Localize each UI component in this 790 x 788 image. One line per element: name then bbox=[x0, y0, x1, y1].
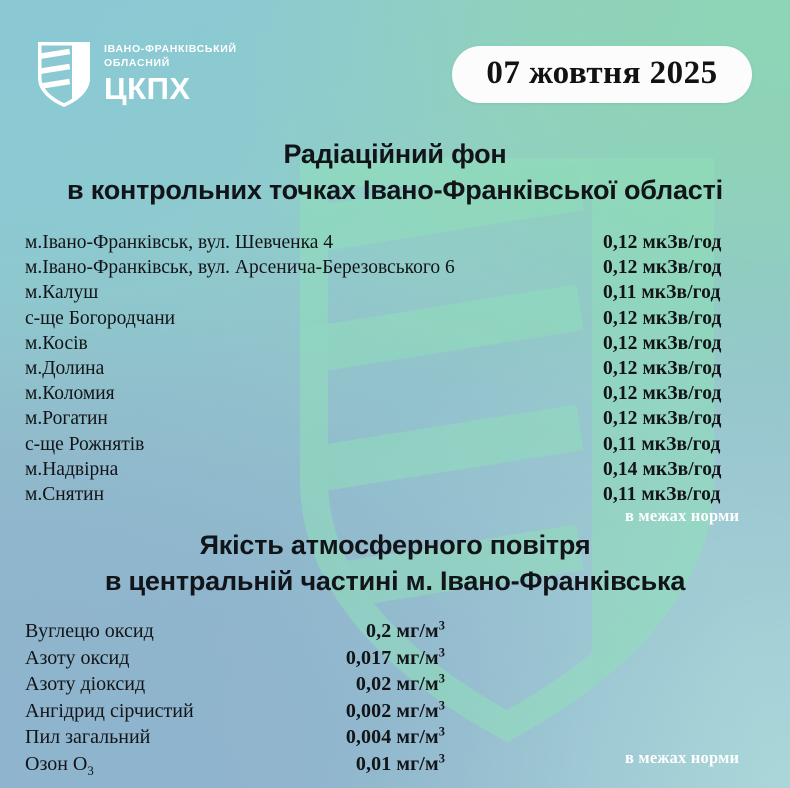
measurement-row: м.Івано-Франківськ, вул. Арсенича-Березо… bbox=[25, 255, 768, 280]
shield-icon bbox=[34, 38, 94, 110]
measurement-row: Азоту діоксид0,02 мг/м3 bbox=[25, 671, 445, 698]
measurement-value: 0,12 мкЗв/год bbox=[603, 230, 768, 255]
measurement-value: 0,11 мкЗв/год bbox=[603, 280, 768, 305]
measurement-value: 0,11 мкЗв/год bbox=[603, 482, 768, 507]
measurement-value: 0,14 мкЗв/год bbox=[603, 457, 768, 482]
measurement-label: Азоту діоксид bbox=[25, 671, 313, 698]
measurement-value: 0,12 мкЗв/год bbox=[603, 255, 768, 280]
measurement-value: 0,12 мкЗв/год bbox=[603, 306, 768, 331]
logo-line-1: ІВАНО-ФРАНКІВСЬКИЙ bbox=[104, 43, 237, 57]
measurement-label: м.Надвірна bbox=[25, 457, 118, 482]
air-quality-measurement-table: Вуглецю оксид0,2 мг/м3Азоту оксид0,017 м… bbox=[25, 618, 445, 777]
measurement-row: м.Надвірна0,14 мкЗв/год bbox=[25, 457, 768, 482]
measurement-row: Пил загальний0,004 мг/м3 bbox=[25, 724, 445, 751]
measurement-label: Ангідрид сірчистий bbox=[25, 698, 313, 725]
measurement-value: 0,12 мкЗв/год bbox=[603, 381, 768, 406]
measurement-row: Ангідрид сірчистий0,002 мг/м3 bbox=[25, 698, 445, 725]
radiation-heading-line-1: Радіаційний фон bbox=[0, 136, 790, 172]
measurement-label: м.Івано-Франківськ, вул. Шевченка 4 bbox=[25, 230, 333, 255]
measurement-row: м.Косів0,12 мкЗв/год bbox=[25, 331, 768, 356]
measurement-label: Вуглецю оксид bbox=[25, 618, 313, 645]
poster-canvas: ІВАНО-ФРАНКІВСЬКИЙ ОБЛАСНИЙ ЦКПХ 07 жовт… bbox=[0, 0, 790, 788]
measurement-row: м.Снятин0,11 мкЗв/год bbox=[25, 482, 768, 507]
measurement-row: м.Калуш0,11 мкЗв/год bbox=[25, 280, 768, 305]
measurement-row: м.Рогатин0,12 мкЗв/год bbox=[25, 406, 768, 431]
logo-wordmark: ІВАНО-ФРАНКІВСЬКИЙ ОБЛАСНИЙ ЦКПХ bbox=[104, 43, 237, 105]
radiation-section-heading: Радіаційний фон в контрольних точках Іва… bbox=[0, 136, 790, 208]
measurement-label: м.Долина bbox=[25, 356, 104, 381]
air-quality-norm-note: в межах норми bbox=[625, 748, 739, 768]
measurement-value: 0,01 мг/м3 bbox=[356, 751, 445, 778]
measurement-row: с-ще Рожнятів0,11 мкЗв/год bbox=[25, 432, 768, 457]
logo-abbreviation: ЦКПХ bbox=[104, 73, 237, 106]
measurement-value: 0,017 мг/м3 bbox=[346, 645, 445, 672]
measurement-label: с-ще Богородчани bbox=[25, 306, 175, 331]
radiation-norm-note: в межах норми bbox=[625, 506, 739, 526]
measurement-label: м.Коломия bbox=[25, 381, 115, 406]
measurement-value: 0,002 мг/м3 bbox=[346, 698, 445, 725]
air-quality-section-heading: Якість атмосферного повітря в центральні… bbox=[0, 527, 790, 599]
date-text: 07 жовтня 2025 bbox=[486, 55, 717, 91]
measurement-label: м.Івано-Франківськ, вул. Арсенича-Березо… bbox=[25, 255, 455, 280]
measurement-label: м.Косів bbox=[25, 331, 88, 356]
measurement-label: Азоту оксид bbox=[25, 645, 313, 672]
measurement-row: Азоту оксид0,017 мг/м3 bbox=[25, 645, 445, 672]
measurement-value: 0,12 мкЗв/год bbox=[603, 331, 768, 356]
measurement-row: м.Коломия0,12 мкЗв/год bbox=[25, 381, 768, 406]
measurement-value: 0,12 мкЗв/год bbox=[603, 406, 768, 431]
measurement-label: Озон О3 bbox=[25, 751, 313, 778]
measurement-row: Вуглецю оксид0,2 мг/м3 bbox=[25, 618, 445, 645]
measurement-label: с-ще Рожнятів bbox=[25, 432, 144, 457]
radiation-measurement-table: м.Івано-Франківськ, вул. Шевченка 40,12 … bbox=[25, 230, 768, 507]
logo-line-2: ОБЛАСНИЙ bbox=[104, 57, 237, 71]
measurement-row: м.Долина0,12 мкЗв/год bbox=[25, 356, 768, 381]
measurement-row: с-ще Богородчани0,12 мкЗв/год bbox=[25, 306, 768, 331]
measurement-row: Озон О30,01 мг/м3 bbox=[25, 751, 445, 778]
air-heading-line-1: Якість атмосферного повітря bbox=[0, 527, 790, 563]
measurement-label: м.Калуш bbox=[25, 280, 98, 305]
measurement-value: 0,12 мкЗв/год bbox=[603, 356, 768, 381]
measurement-value: 0,11 мкЗв/год bbox=[603, 432, 768, 457]
air-heading-line-2: в центральній частині м. Івано-Франківсь… bbox=[0, 563, 790, 599]
measurement-row: м.Івано-Франківськ, вул. Шевченка 40,12 … bbox=[25, 230, 768, 255]
date-badge: 07 жовтня 2025 bbox=[452, 46, 752, 103]
radiation-heading-line-2: в контрольних точках Івано-Франківської … bbox=[0, 172, 790, 208]
measurement-label: Пил загальний bbox=[25, 724, 313, 751]
measurement-value: 0,004 мг/м3 bbox=[346, 724, 445, 751]
measurement-value: 0,2 мг/м3 bbox=[366, 618, 445, 645]
measurement-label: м.Рогатин bbox=[25, 406, 108, 431]
organization-logo: ІВАНО-ФРАНКІВСЬКИЙ ОБЛАСНИЙ ЦКПХ bbox=[34, 38, 237, 110]
measurement-value: 0,02 мг/м3 bbox=[356, 671, 445, 698]
measurement-label: м.Снятин bbox=[25, 482, 104, 507]
